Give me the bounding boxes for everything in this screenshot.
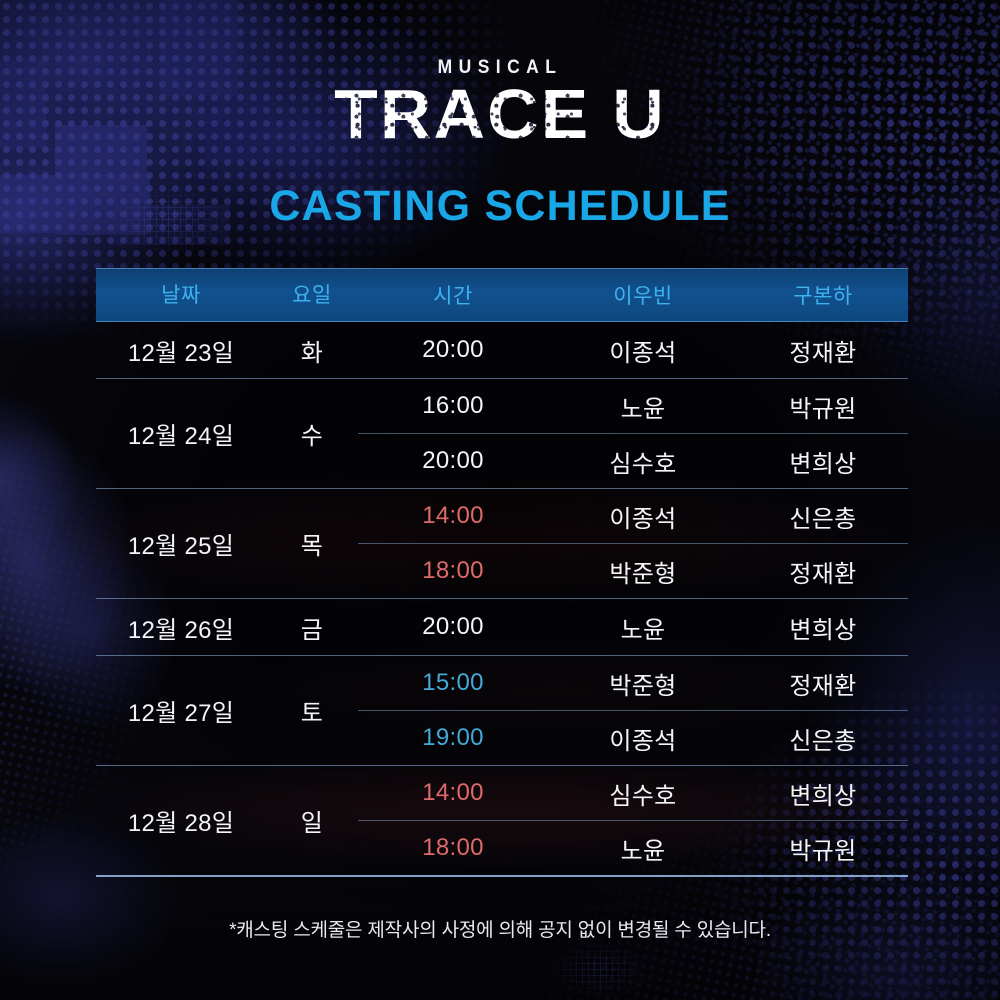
cell-day: 금 [266,599,358,656]
schedule-date-group: 12월 25일목14:00이종석신은총18:00박준형정재환 [96,489,908,599]
cell-actor-gu-bonha: 신은총 [738,721,908,756]
casting-schedule-poster: MUSICAL TRACE U CASTING SCHEDULE 날짜 요일 시… [0,0,1000,1000]
schedule-date-group: 12월 23일화20:00이종석정재환 [96,322,908,379]
column-header-day: 요일 [266,268,358,322]
cell-day: 화 [266,322,358,379]
table-body: 12월 23일화20:00이종석정재환12월 24일수16:00노윤박규원20:… [96,322,908,876]
cell-day: 일 [266,766,358,877]
cell-time: 20:00 [358,613,548,641]
cell-actor-gu-bonha: 박규원 [738,831,908,866]
cell-time: 15:00 [358,669,548,697]
cell-time: 20:00 [358,447,548,475]
column-header-time: 시간 [358,280,548,310]
schedule-date-group: 12월 27일토15:00박준형정재환19:00이종석신은총 [96,656,908,766]
cell-actor-lee-woobin: 노윤 [548,831,738,866]
cell-time: 16:00 [358,392,548,420]
cell-actor-gu-bonha: 신은총 [738,499,908,534]
cell-actor-gu-bonha: 정재환 [738,333,908,368]
schedule-date-group: 12월 24일수16:00노윤박규원20:00심수호변희상 [96,379,908,489]
cell-actor-gu-bonha: 정재환 [738,554,908,589]
poster-header: MUSICAL TRACE U CASTING SCHEDULE [0,0,1000,231]
page-title: CASTING SCHEDULE [0,182,1000,231]
performance-row: 20:00노윤변희상 [358,599,908,655]
cell-actor-gu-bonha: 변희상 [738,776,908,811]
cell-date: 12월 23일 [96,322,266,379]
column-header-actor-lee-woobin: 이우빈 [548,280,738,310]
cell-performances: 20:00노윤변희상 [358,599,908,656]
performance-row: 19:00이종석신은총 [358,710,908,765]
casting-schedule-table: 날짜 요일 시간 이우빈 구본하 12월 23일화20:00이종석정재환12월 … [96,268,908,877]
schedule-date-group: 12월 26일금20:00노윤변희상 [96,599,908,656]
cell-actor-lee-woobin: 박준형 [548,666,738,701]
cell-time: 18:00 [358,834,548,862]
performance-row: 18:00노윤박규원 [358,820,908,875]
column-header-actor-gu-bonha: 구본하 [738,280,908,310]
cell-actor-lee-woobin: 심수호 [548,776,738,811]
cell-time: 14:00 [358,779,548,807]
cell-performances: 16:00노윤박규원20:00심수호변희상 [358,379,908,489]
performance-row: 14:00심수호변희상 [358,766,908,820]
cell-day: 토 [266,656,358,766]
cell-time: 19:00 [358,724,548,752]
performance-row: 20:00심수호변희상 [358,433,908,488]
cell-actor-lee-woobin: 이종석 [548,721,738,756]
table-header-row: 날짜 요일 시간 이우빈 구본하 [96,268,908,322]
cell-date: 12월 26일 [96,599,266,656]
show-logo-title: TRACE U [0,81,1000,148]
cell-actor-gu-bonha: 박규원 [738,389,908,424]
performance-row: 16:00노윤박규원 [358,379,908,433]
performance-row: 14:00이종석신은총 [358,489,908,543]
cell-actor-gu-bonha: 변희상 [738,444,908,479]
cell-day: 목 [266,489,358,599]
cell-actor-gu-bonha: 변희상 [738,610,908,645]
cell-actor-gu-bonha: 정재환 [738,666,908,701]
cell-time: 18:00 [358,557,548,585]
table-head: 날짜 요일 시간 이우빈 구본하 [96,268,908,322]
performance-row: 20:00이종석정재환 [358,322,908,378]
cell-actor-lee-woobin: 박준형 [548,554,738,589]
cell-actor-lee-woobin: 노윤 [548,610,738,645]
cell-time: 20:00 [358,336,548,364]
schedule-date-group: 12월 28일일14:00심수호변희상18:00노윤박규원 [96,766,908,877]
cell-performances: 20:00이종석정재환 [358,322,908,379]
cell-date: 12월 28일 [96,766,266,877]
performance-row: 18:00박준형정재환 [358,543,908,598]
cell-actor-lee-woobin: 노윤 [548,389,738,424]
cell-actor-lee-woobin: 이종석 [548,499,738,534]
cell-performances: 15:00박준형정재환19:00이종석신은총 [358,656,908,766]
schedule-footnote: *캐스팅 스케줄은 제작사의 사정에 의해 공지 없이 변경될 수 있습니다. [0,915,1000,942]
cell-performances: 14:00이종석신은총18:00박준형정재환 [358,489,908,599]
cell-date: 12월 27일 [96,656,266,766]
cell-performances: 14:00심수호변희상18:00노윤박규원 [358,766,908,877]
cell-actor-lee-woobin: 이종석 [548,333,738,368]
cell-time: 14:00 [358,502,548,530]
cell-actor-lee-woobin: 심수호 [548,444,738,479]
column-header-date: 날짜 [96,268,266,322]
cell-day: 수 [266,379,358,489]
cell-date: 12월 25일 [96,489,266,599]
cell-date: 12월 24일 [96,379,266,489]
performance-row: 15:00박준형정재환 [358,656,908,710]
